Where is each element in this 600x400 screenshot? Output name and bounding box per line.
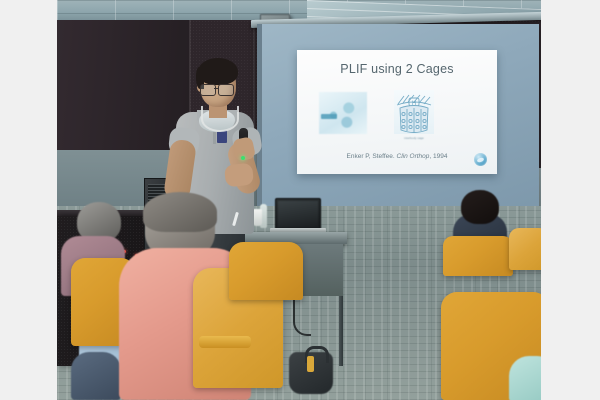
laptop-screen	[278, 201, 318, 227]
microphone-status-led	[241, 156, 245, 160]
paper-cup	[253, 209, 262, 226]
chair-armrest	[199, 336, 251, 348]
right-margin	[541, 0, 600, 400]
attendee-3-head	[461, 190, 499, 224]
citation-year: 1994	[433, 153, 447, 160]
cage-implant-line-drawing: H	[394, 90, 434, 134]
eyeglass-bridge	[214, 88, 218, 89]
cage-diagram-svg: H	[394, 90, 434, 134]
citation-comma: ,	[429, 153, 431, 160]
backpack-tag	[307, 356, 314, 372]
presentation-laptop	[275, 198, 321, 230]
lecture-hall-photograph: PLIF using 2 Cages H	[57, 0, 541, 400]
presenter-hair	[198, 58, 238, 85]
chair	[509, 228, 541, 270]
attendee-1-trousers	[71, 352, 121, 400]
eyeglass-lens	[218, 84, 234, 96]
citation-journal: Clin Orthop	[397, 153, 430, 160]
presenter-hand-lower	[224, 163, 254, 188]
attendee-4-shirt	[509, 356, 541, 400]
desk-leg	[339, 296, 343, 366]
slide-figure-caption: interbody cage	[390, 136, 438, 140]
citation-authors: Enker P, Steffee.	[347, 153, 395, 160]
intraoperative-spine-photo	[319, 92, 367, 134]
presenter-eyeglasses	[200, 84, 236, 94]
projection-screen: PLIF using 2 Cages H	[257, 24, 539, 212]
attendee-2-hair	[143, 192, 217, 232]
screenshot-canvas: PLIF using 2 Cages H	[0, 0, 600, 400]
photo-highlight	[321, 114, 337, 119]
eyeglass-lens	[200, 84, 216, 96]
projected-slide: PLIF using 2 Cages H	[297, 50, 497, 174]
left-margin	[0, 0, 57, 400]
slide-citation: Enker P, Steffee. Clin Orthop, 1994	[297, 153, 497, 160]
slide-title: PLIF using 2 Cages	[297, 62, 497, 76]
chair	[443, 236, 513, 276]
chair	[229, 242, 303, 300]
institution-logo	[474, 153, 487, 166]
